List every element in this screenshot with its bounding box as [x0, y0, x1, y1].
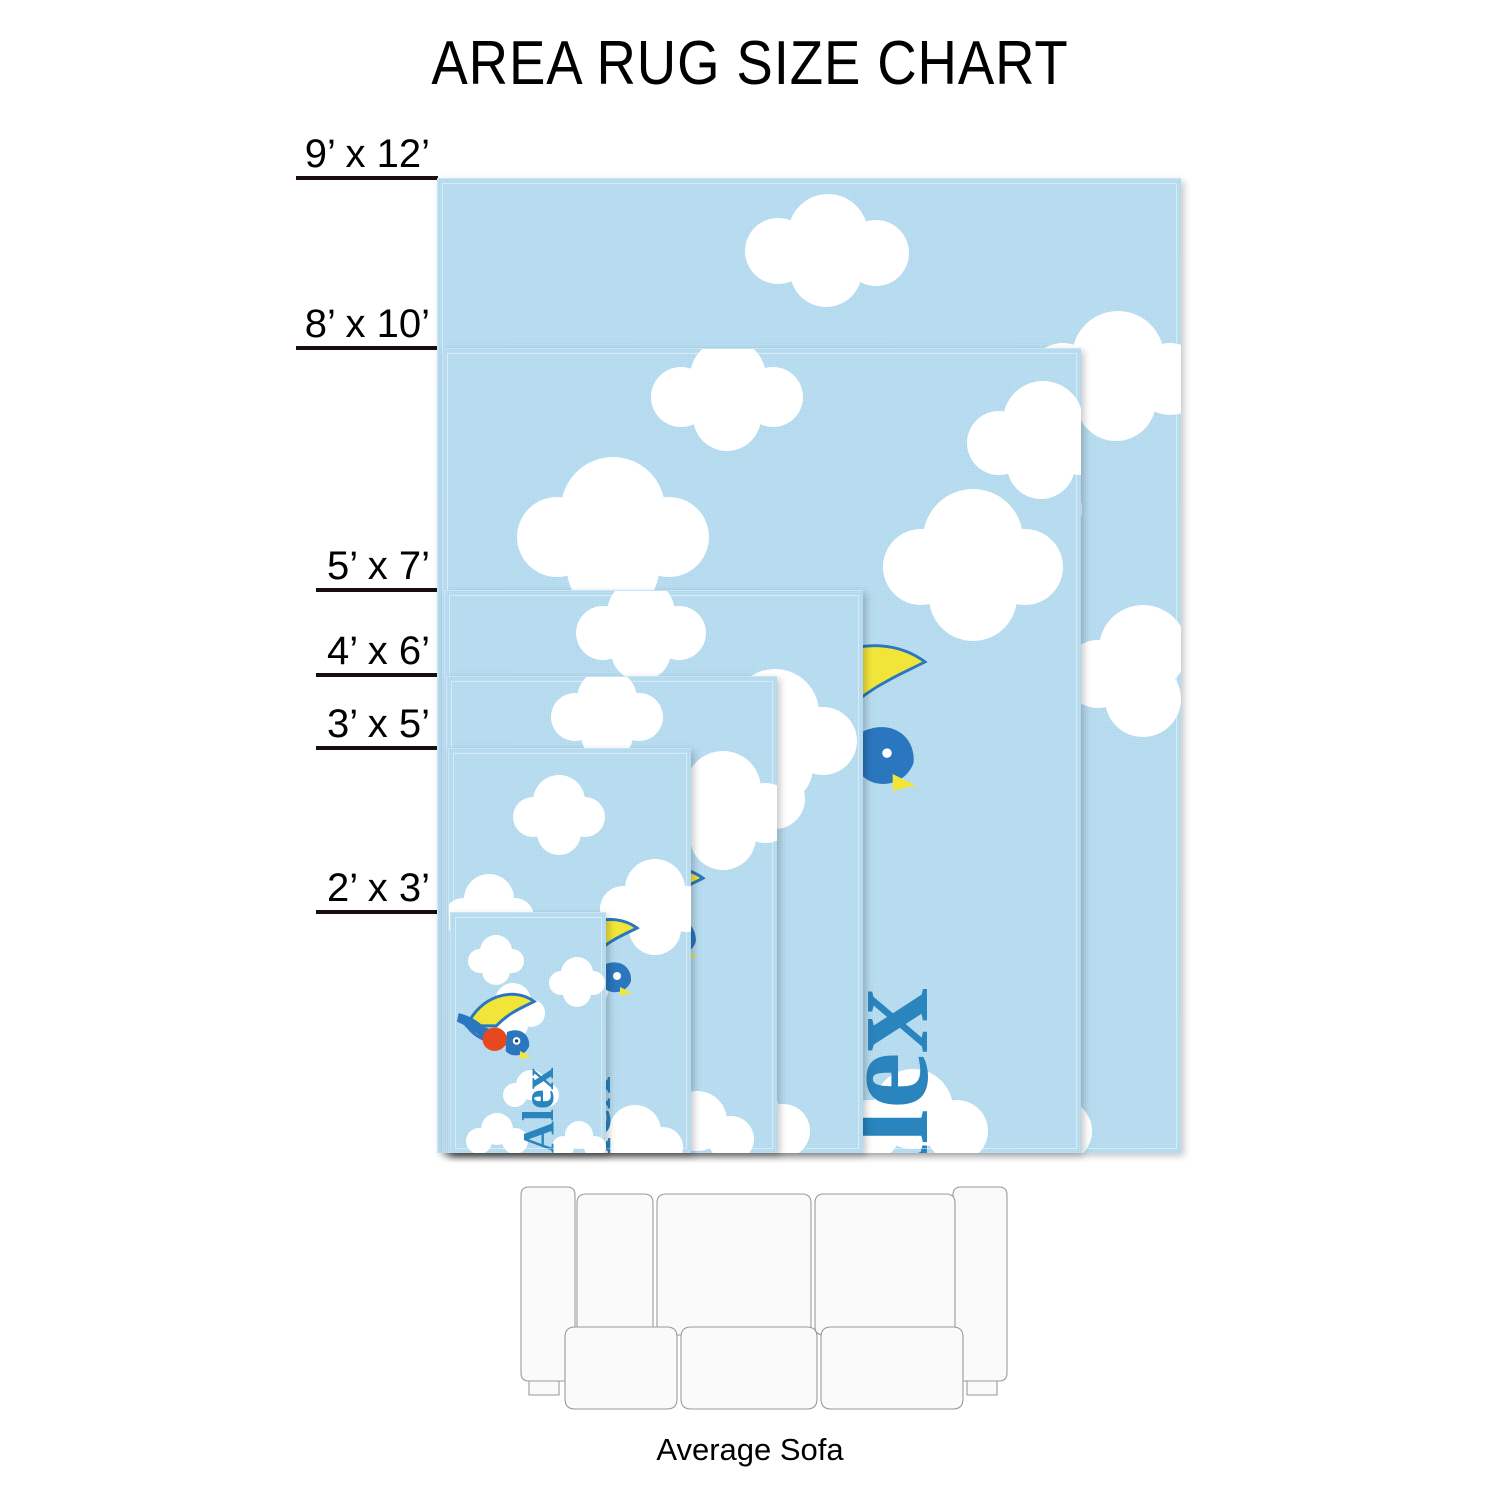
- leader-line-2x3: [316, 910, 438, 914]
- leader-line-8x10: [296, 346, 438, 350]
- size-label-8x10: 8’ x 10’: [296, 302, 438, 350]
- size-label-4x6: 4’ x 6’: [316, 629, 438, 677]
- leader-line-4x6: [316, 673, 438, 677]
- cloud-icon: [651, 349, 803, 451]
- cloud-icon: [576, 591, 706, 681]
- leader-line-3x5: [316, 746, 438, 750]
- size-label-8x10-text: 8’ x 10’: [296, 302, 438, 346]
- cloud-icon: [513, 775, 605, 855]
- cloud-icon: [967, 381, 1081, 499]
- size-label-5x7-text: 5’ x 7’: [316, 544, 438, 588]
- cloud-icon: [745, 194, 909, 307]
- size-label-2x3: 2’ x 3’: [316, 866, 438, 914]
- size-label-9x12: 9’ x 12’: [296, 132, 438, 180]
- sofa-foot-left: [529, 1381, 559, 1395]
- page-title: AREA RUG SIZE CHART: [90, 28, 1410, 99]
- size-label-2x3-text: 2’ x 3’: [316, 866, 438, 910]
- cloud-icon: [1064, 605, 1181, 737]
- sofa-back-cushion-2: [657, 1194, 811, 1335]
- size-label-3x5: 3’ x 5’: [316, 702, 438, 750]
- rug-name-2x3: Alex: [517, 1067, 561, 1153]
- average-sofa-diagram: [515, 1183, 1015, 1415]
- size-label-5x7: 5’ x 7’: [316, 544, 438, 592]
- sofa-back-cushion-1: [577, 1194, 653, 1335]
- leader-line-9x12: [296, 176, 438, 180]
- rug-swatch-2x3[interactable]: Alex: [450, 912, 606, 1153]
- cloud-icon: [549, 957, 605, 1007]
- size-label-9x12-text: 9’ x 12’: [296, 132, 438, 176]
- sofa-seat-cushion-3: [821, 1327, 963, 1409]
- sofa-seat-cushion-1: [565, 1327, 677, 1409]
- cloud-icon: [468, 935, 524, 985]
- sofa-caption: Average Sofa: [0, 1432, 1500, 1468]
- cloud-icon: [883, 489, 1063, 641]
- sofa-back-cushion-3: [815, 1194, 955, 1335]
- sofa-foot-right: [967, 1381, 997, 1395]
- size-label-4x6-text: 4’ x 6’: [316, 629, 438, 673]
- sofa-seat-cushion-2: [681, 1327, 817, 1409]
- leader-line-5x7: [316, 588, 438, 592]
- size-label-3x5-text: 3’ x 5’: [316, 702, 438, 746]
